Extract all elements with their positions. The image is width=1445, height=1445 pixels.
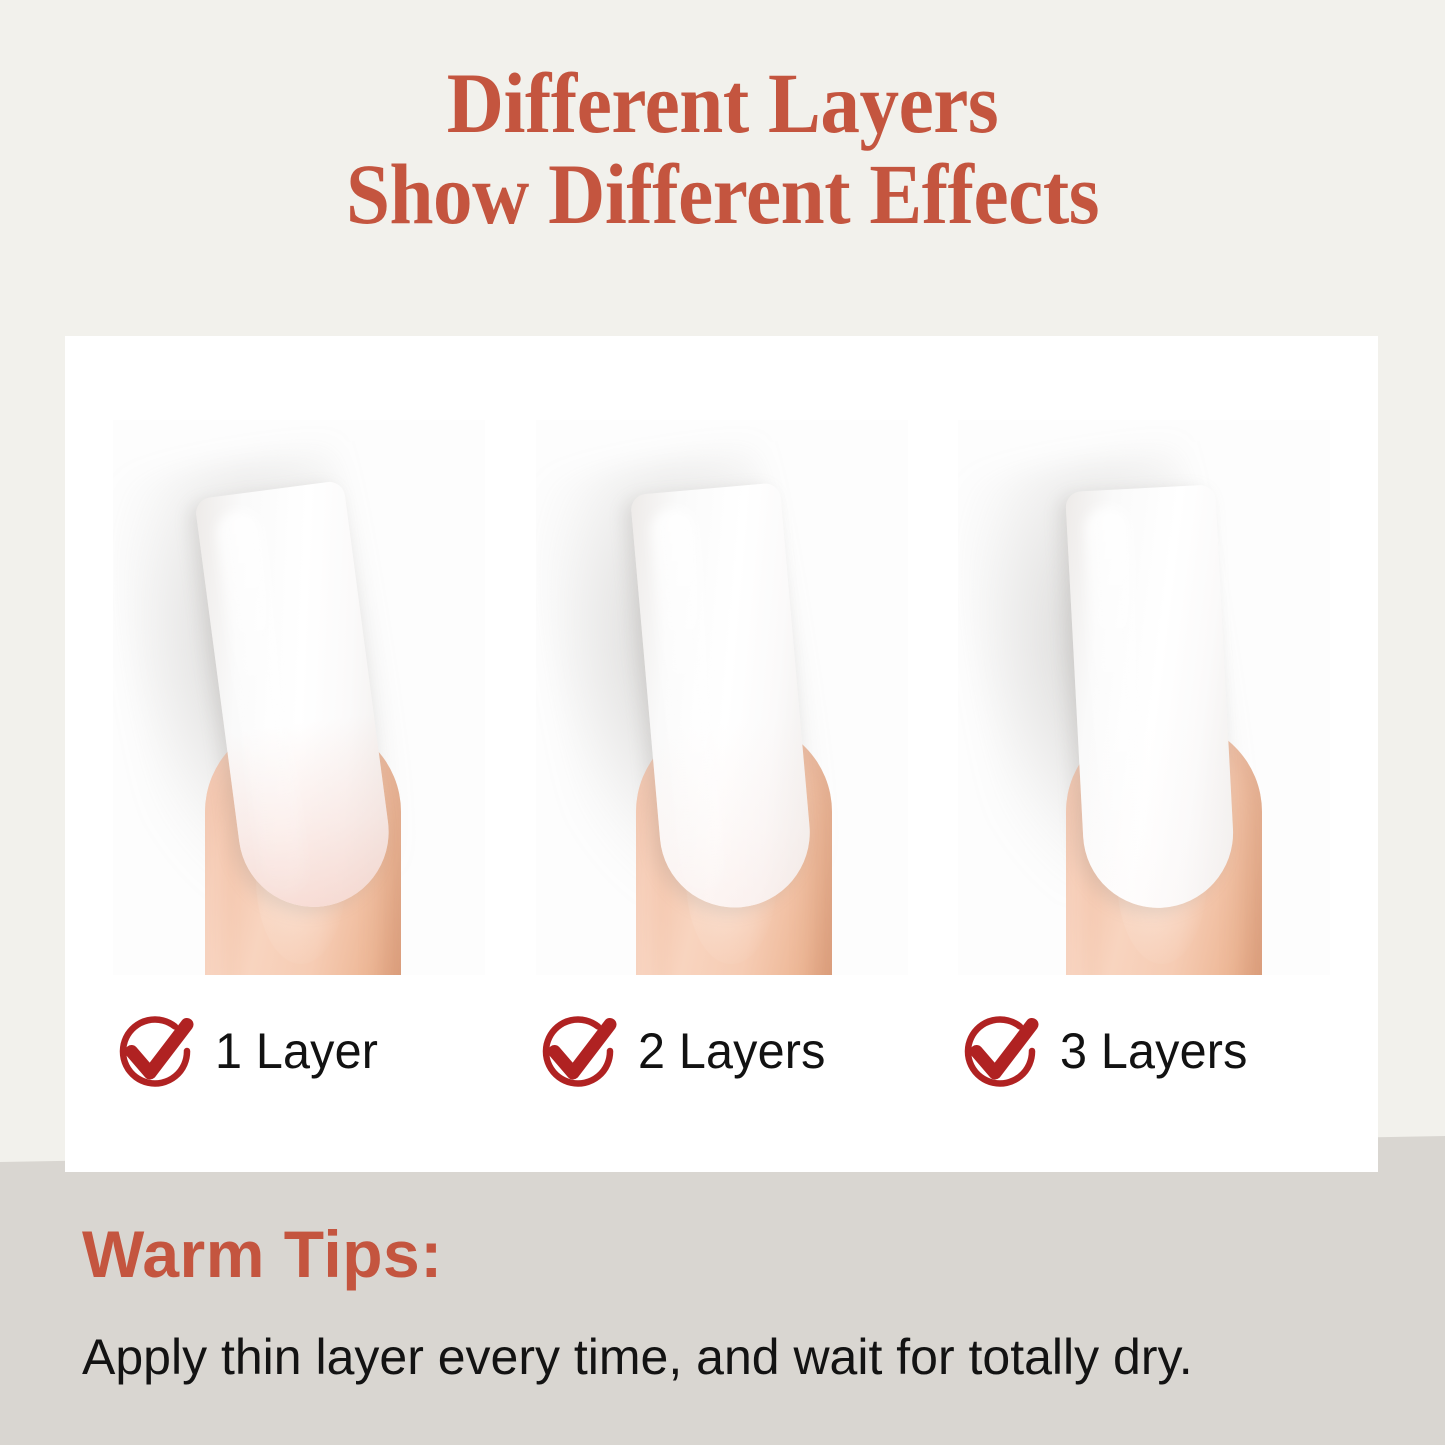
infographic-page: Different Layers Show Different Effects xyxy=(0,0,1445,1445)
caption-2-layers: 2 Layers xyxy=(536,996,908,1106)
nail-photo-panel-3 xyxy=(958,420,1330,975)
photo-scene xyxy=(958,420,1330,975)
check-circle-icon xyxy=(958,1009,1042,1093)
caption-1-layer: 1 Layer xyxy=(113,996,485,1106)
check-circle-icon xyxy=(536,1009,620,1093)
caption-row: 1 Layer 2 Layers 3 Lay xyxy=(113,996,1330,1106)
page-title: Different Layers Show Different Effects xyxy=(0,58,1445,240)
caption-label: 3 Layers xyxy=(1060,1022,1248,1080)
caption-label: 1 Layer xyxy=(215,1022,378,1080)
warm-tips-body: Apply thin layer every time, and wait fo… xyxy=(82,1328,1193,1386)
photo-scene xyxy=(536,420,908,975)
caption-3-layers: 3 Layers xyxy=(958,996,1330,1106)
comparison-card: 1 Layer 2 Layers 3 Lay xyxy=(65,336,1378,1172)
photo-scene xyxy=(113,420,485,975)
panel-row xyxy=(113,420,1330,975)
nail-plate xyxy=(1065,484,1237,911)
title-line-1: Different Layers xyxy=(58,58,1387,149)
title-line-2: Show Different Effects xyxy=(58,149,1387,240)
caption-label: 2 Layers xyxy=(638,1022,826,1080)
check-circle-icon xyxy=(113,1009,197,1093)
warm-tips-heading: Warm Tips: xyxy=(82,1216,443,1292)
nail-photo-panel-2 xyxy=(536,420,908,975)
nail-photo-panel-1 xyxy=(113,420,485,975)
